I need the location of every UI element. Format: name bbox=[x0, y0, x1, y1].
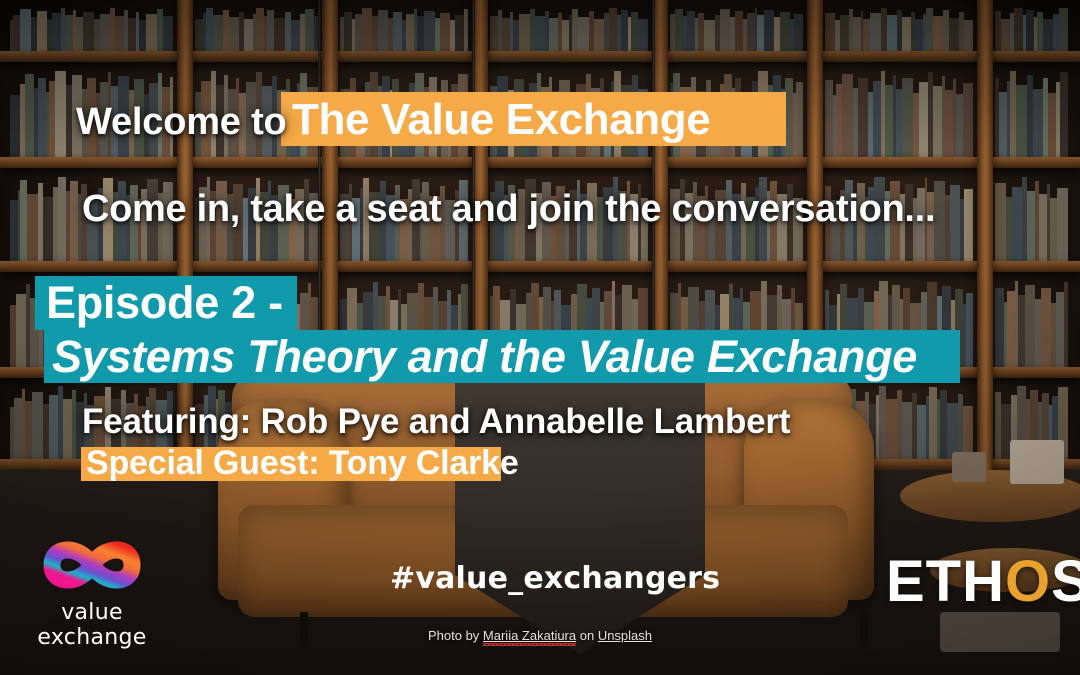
podcast-title-slide: Welcome to The Value Exchange Come in, t… bbox=[0, 0, 1080, 675]
special-guest-text: Special Guest: Tony Clarke bbox=[86, 446, 519, 480]
hashtag-text: #value_exchangers bbox=[390, 561, 720, 596]
episode-title-text: Systems Theory and the Value Exchange bbox=[52, 334, 917, 379]
value-exchange-logo: value exchange bbox=[8, 528, 176, 628]
ethos-logo-part1: ETH bbox=[886, 549, 1005, 614]
featuring-text: Featuring: Rob Pye and Annabelle Lambert bbox=[82, 404, 790, 439]
welcome-prefix-text: Welcome to bbox=[76, 103, 287, 141]
credit-source-link[interactable]: Unsplash bbox=[598, 628, 652, 643]
value-exchange-wordmark: value exchange bbox=[8, 600, 176, 650]
ethos-logo-part2: S bbox=[1051, 549, 1080, 614]
infinity-icon bbox=[8, 528, 176, 602]
show-title-text: The Value Exchange bbox=[292, 98, 710, 142]
ethos-logo-o: O bbox=[1005, 549, 1051, 614]
tagline-text: Come in, take a seat and join the conver… bbox=[82, 190, 935, 228]
credit-photographer-link[interactable]: Mariia Zakatiura bbox=[483, 628, 576, 643]
ethos-logo: ETHOS bbox=[886, 548, 1080, 615]
credit-prefix: Photo by bbox=[428, 628, 483, 643]
episode-number-text: Episode 2 - bbox=[46, 280, 283, 325]
credit-middle: on bbox=[576, 628, 598, 643]
overlay-layer: Welcome to The Value Exchange Come in, t… bbox=[0, 0, 1080, 675]
